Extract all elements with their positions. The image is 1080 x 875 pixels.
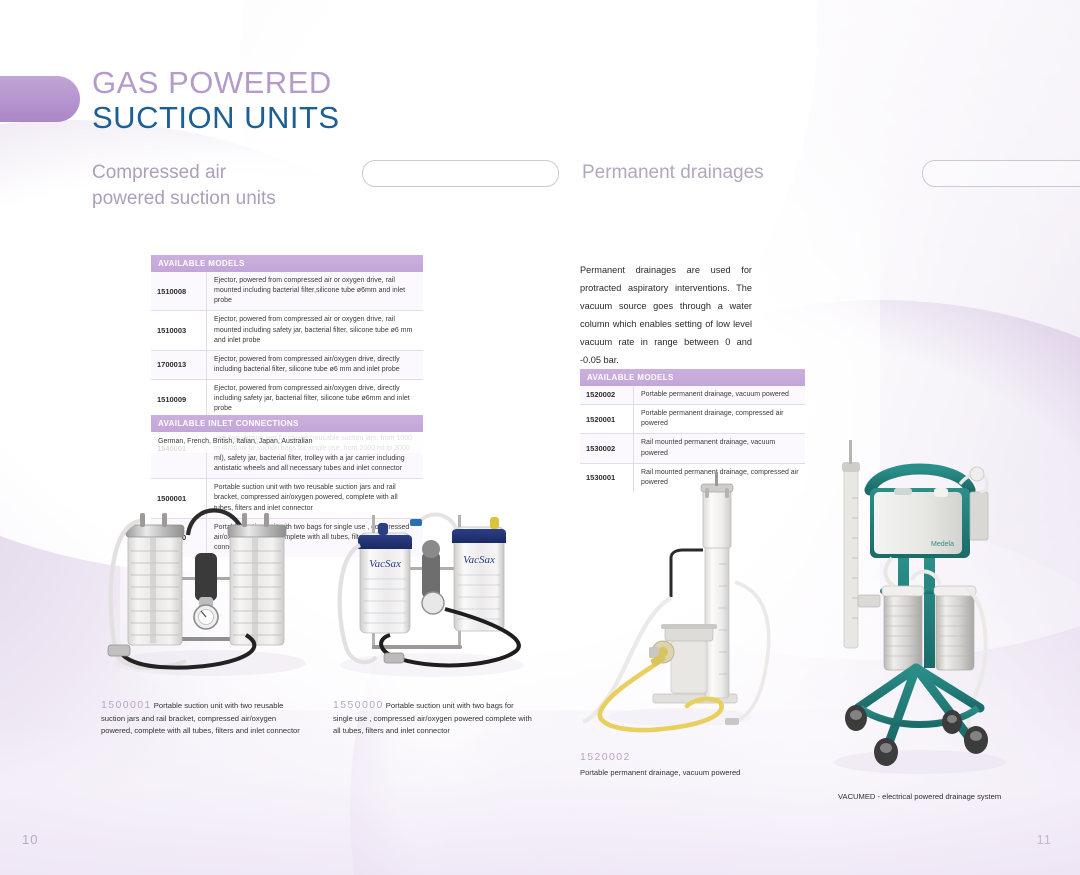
page-title-line-1: GAS POWERED bbox=[92, 66, 340, 101]
model-description: Ejector, powered from compressed air/oxy… bbox=[207, 380, 423, 418]
permanent-drainage-water-column-image bbox=[575, 472, 780, 744]
section-tab bbox=[0, 76, 80, 122]
svg-text:VacSax: VacSax bbox=[369, 558, 401, 570]
model-description: Portable permanent drainage, vacuum powe… bbox=[634, 386, 805, 404]
caption-code: 1520002 bbox=[580, 749, 800, 765]
table-row: 1700013 Ejector, powered from compressed… bbox=[151, 351, 423, 380]
model-code: 1520002 bbox=[580, 386, 634, 404]
left-subtitle-line-2: powered suction units bbox=[92, 186, 276, 212]
catalog-spread: GAS POWERED SUCTION UNITS Compressed air… bbox=[0, 0, 1080, 875]
model-code: 1530002 bbox=[580, 434, 634, 462]
vacumed-drainage-trolley-image: Medela bbox=[820, 440, 1020, 785]
left-section-subtitle: Compressed air powered suction units bbox=[92, 160, 276, 211]
svg-text:VacSax: VacSax bbox=[463, 554, 495, 566]
left-inlet-table-header: AVAILABLE INLET CONNECTIONS bbox=[151, 415, 423, 432]
model-description: Ejector, powered from compressed air or … bbox=[207, 311, 423, 349]
model-code: 1520001 bbox=[580, 405, 634, 433]
product-photo-1500001 bbox=[100, 485, 320, 685]
inlet-connections-value: German, French, British, Italian, Japan,… bbox=[151, 432, 423, 453]
left-models-table-header: AVAILABLE MODELS bbox=[151, 255, 423, 272]
caption-code: 1500001 bbox=[101, 699, 152, 711]
model-code: 1510008 bbox=[151, 272, 207, 310]
caption-1520002: 1520002Portable permanent drainage, vacu… bbox=[580, 749, 800, 779]
left-subtitle-line-1: Compressed air bbox=[92, 160, 276, 186]
model-description: Ejector, powered from compressed air/oxy… bbox=[207, 351, 423, 379]
model-code: 1510003 bbox=[151, 311, 207, 349]
page-number-right: 11 bbox=[1037, 832, 1053, 847]
model-code: 1510009 bbox=[151, 380, 207, 418]
product-photo-1520002 bbox=[575, 472, 780, 744]
right-section-paragraph: Permanent drainages are used for protrac… bbox=[580, 262, 752, 370]
caption-1550000: 1550000 Portable suction unit with two b… bbox=[333, 697, 533, 737]
model-code: 1700013 bbox=[151, 351, 207, 379]
table-row: 1530002 Rail mounted permanent drainage,… bbox=[580, 434, 805, 463]
decorative-pill-left bbox=[362, 160, 559, 187]
table-row: 1510009 Ejector, powered from compressed… bbox=[151, 380, 423, 419]
suction-unit-reusable-jars-image bbox=[100, 485, 320, 685]
svg-text:Medela: Medela bbox=[931, 541, 954, 548]
page-title: GAS POWERED SUCTION UNITS bbox=[92, 66, 340, 135]
model-description: Ejector, powered from compressed air or … bbox=[207, 272, 423, 310]
caption-vacumed: VACUMED - electrical powered drainage sy… bbox=[838, 791, 1058, 803]
table-row: 1520001 Portable permanent drainage, com… bbox=[580, 405, 805, 434]
caption-text: Portable permanent drainage, vacuum powe… bbox=[580, 768, 740, 777]
caption-1500001: 1500001 Portable suction unit with two r… bbox=[101, 697, 306, 737]
product-photo-vacumed: Medela bbox=[820, 440, 1020, 785]
suction-unit-single-use-bags-image: VacSax VacSax bbox=[330, 505, 535, 685]
table-row: 1520002 Portable permanent drainage, vac… bbox=[580, 386, 805, 405]
decorative-pill-right bbox=[922, 160, 1080, 187]
product-photo-1550000: VacSax VacSax bbox=[330, 505, 535, 685]
right-models-table-header: AVAILABLE MODELS bbox=[580, 369, 805, 386]
table-row: 1510003 Ejector, powered from compressed… bbox=[151, 311, 423, 350]
left-inlet-connections-table: AVAILABLE INLET CONNECTIONS German, Fren… bbox=[151, 415, 423, 453]
caption-code: 1550000 bbox=[333, 699, 384, 711]
right-section-subtitle: Permanent drainages bbox=[582, 160, 764, 186]
model-description: Portable permanent drainage, compressed … bbox=[634, 405, 805, 433]
page-number-left: 10 bbox=[22, 832, 38, 847]
table-row: 1510008 Ejector, powered from compressed… bbox=[151, 272, 423, 311]
model-description: Rail mounted permanent drainage, vacuum … bbox=[634, 434, 805, 462]
page-title-line-2: SUCTION UNITS bbox=[92, 101, 340, 136]
